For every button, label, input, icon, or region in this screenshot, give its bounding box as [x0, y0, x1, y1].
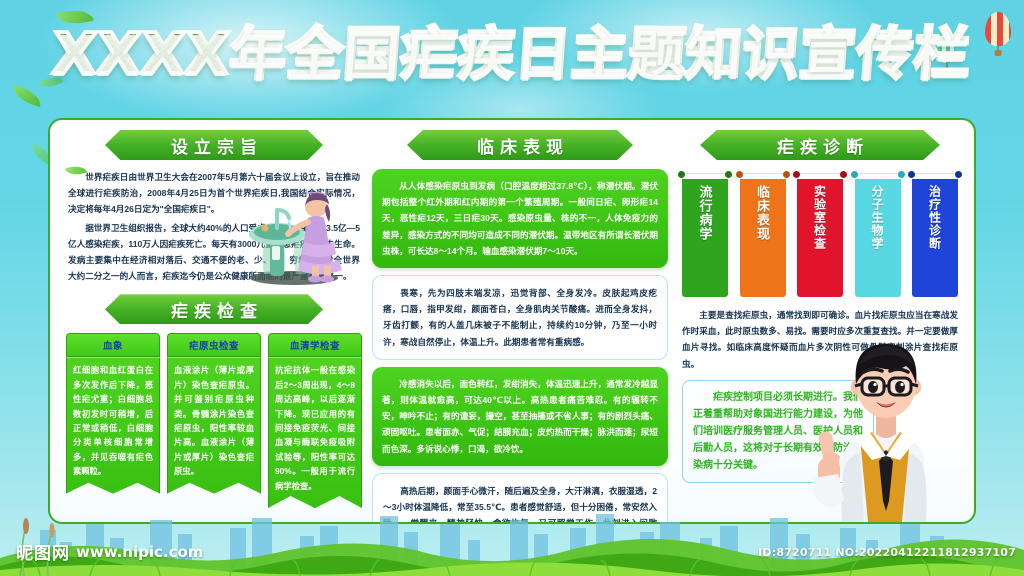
clinical-block-fever: 冷感消失以后，面色转红，发绀消失，体温迅速上升，通常发冷越显著，则体温就愈高，可…: [372, 367, 668, 466]
banner-knob-left: [908, 171, 915, 178]
banner-knob-left: [678, 171, 685, 178]
banner-rod: [851, 171, 905, 179]
column-left: 设立宗旨 世界疟疾日由世界卫生大会在2007年5月第六十届会议上设立，旨在推动全…: [58, 120, 370, 508]
examination-column: 疟原虫检查 血液涂片（薄片或厚片）染色查疟原虫。并可鉴别疟原虫种类。骨髓涂片染色…: [167, 333, 261, 508]
banner-knob-right: [725, 171, 732, 178]
poster-title-container: XXXX年全国疟疾日主题知识宣传栏: [0, 22, 1024, 88]
diagnosis-banner-clinical: 临床表现: [740, 171, 786, 297]
purpose-body: 世界疟疾日由世界卫生大会在2007年5月第六十届会议上设立，旨在推动全球进行疟疾…: [58, 169, 370, 284]
banner-label: 流行病学: [696, 185, 715, 241]
section-heading-diagnosis-label: 疟疾诊断: [771, 133, 869, 158]
content-board: 设立宗旨 世界疟疾日由世界卫生大会在2007年5月第六十届会议上设立，旨在推动全…: [48, 118, 976, 524]
banner-label: 临床表现: [753, 185, 772, 241]
banner-knob-right: [898, 171, 905, 178]
examination-column: 血清学检查 抗疟抗体一般在感染后2～3周出现，4～8周达高峰，以后逐渐下降。现已…: [268, 333, 362, 508]
section-heading-clinical: 临床表现: [407, 130, 633, 160]
banner-body: 治疗性诊断: [912, 179, 958, 297]
examination-column-header: 血象: [66, 333, 160, 357]
examination-column-header: 血清学检查: [268, 333, 362, 357]
banner-knob-left: [736, 171, 743, 178]
banner-label: 治疗性诊断: [927, 185, 944, 250]
banner-label: 分子生物学: [869, 185, 886, 250]
handwashing-girl-illustration: [234, 190, 366, 286]
clinical-block-text: 从人体感染疟原虫到发病（口腔温度超过37.8℃），称潜伏期。潜伏期包括整个红外期…: [382, 178, 658, 259]
section-heading-purpose-label: 设立宗旨: [165, 133, 263, 158]
diagnosis-banner-epidemiology: 流行病学: [682, 171, 728, 297]
banner-knob-left: [793, 171, 800, 178]
diagnosis-banner-laboratory: 实验室检查: [797, 171, 843, 297]
asset-id-code: ID:8720711 NO:20220412211812937107: [758, 546, 1016, 559]
site-watermark: 昵图网 www.nipic.com: [16, 539, 203, 564]
leaf-decor-2: [11, 85, 44, 107]
clinical-block-chill: 畏寒，先为四肢末端发凉，迅觉背部、全身发冷。皮肤起鸡皮疙瘩，口唇，指甲发绀，颜面…: [372, 275, 668, 360]
section-heading-clinical-label: 临床表现: [471, 133, 569, 158]
examination-column: 血象 红细胞和血红蛋白在多次发作后下降，恶性疟尤重；白细胞总数初发时可稍增，后正…: [66, 333, 160, 508]
poster-title: XXXX年全国疟疾日主题知识宣传栏: [51, 22, 973, 88]
section-heading-examination-label: 疟疾检查: [165, 297, 263, 322]
watermark-url: www.nipic.com: [76, 543, 203, 561]
examination-column-header: 疟原虫检查: [167, 333, 261, 357]
section-heading-diagnosis: 疟疾诊断: [700, 130, 940, 160]
banner-body: 流行病学: [682, 179, 728, 297]
section-heading-examination: 疟疾检查: [105, 294, 323, 324]
poster-canvas: XXXX年全国疟疾日主题知识宣传栏 设立宗旨 世界疟疾日由世界卫生大会在2007…: [0, 0, 1024, 576]
banner-rod: [678, 171, 732, 179]
banner-knob-right: [955, 171, 962, 178]
banner-rod: [736, 171, 790, 179]
diagnosis-banner-therapeutic: 治疗性诊断: [912, 171, 958, 297]
watermark-site-name: 昵图网: [16, 539, 70, 564]
examination-table: 血象 红细胞和血红蛋白在多次发作后下降，恶性疟尤重；白细胞总数初发时可稍增，后正…: [58, 333, 370, 508]
clinical-block-text: 冷感消失以后，面色转红，发绀消失，体温迅速上升，通常发冷越显著，则体温就愈高，可…: [382, 376, 658, 457]
diagnosis-banner-molecular: 分子生物学: [855, 171, 901, 297]
banner-rod: [793, 171, 847, 179]
banner-knob-right: [840, 171, 847, 178]
banner-body: 分子生物学: [855, 179, 901, 297]
banner-knob-left: [851, 171, 858, 178]
banner-label: 实验室检查: [812, 185, 829, 250]
banner-rod: [908, 171, 962, 179]
column-middle: 临床表现 从人体感染疟原虫到发病（口腔温度超过37.8℃），称潜伏期。潜伏期包括…: [372, 120, 668, 524]
examination-column-body: 抗疟抗体一般在感染后2～3周出现，4～8周达高峰，以后逐渐下降。现已应用的有间接…: [268, 357, 362, 508]
banner-body: 临床表现: [740, 179, 786, 297]
doctor-illustration: [812, 332, 962, 522]
examination-column-body: 红细胞和血红蛋白在多次发作后下降，恶性疟尤重；白细胞总数初发时可稍增，后正常或稍…: [66, 357, 160, 493]
examination-column-body: 血液涂片（薄片或厚片）染色查疟原虫。并可鉴别疟原虫种类。骨髓涂片染色查疟原虫，阳…: [167, 357, 261, 493]
banner-knob-right: [783, 171, 790, 178]
clinical-block-text: 畏寒，先为四肢末端发凉，迅觉背部、全身发冷。皮肤起鸡皮疙瘩，口唇，指甲发绀，颜面…: [383, 285, 657, 350]
diagnosis-banner-row: 流行病学 临床表现: [670, 169, 970, 297]
banner-body: 实验室检查: [797, 179, 843, 297]
section-heading-purpose: 设立宗旨: [105, 130, 323, 160]
clinical-block-incubation: 从人体感染疟原虫到发病（口腔温度超过37.8℃），称潜伏期。潜伏期包括整个红外期…: [372, 169, 668, 268]
